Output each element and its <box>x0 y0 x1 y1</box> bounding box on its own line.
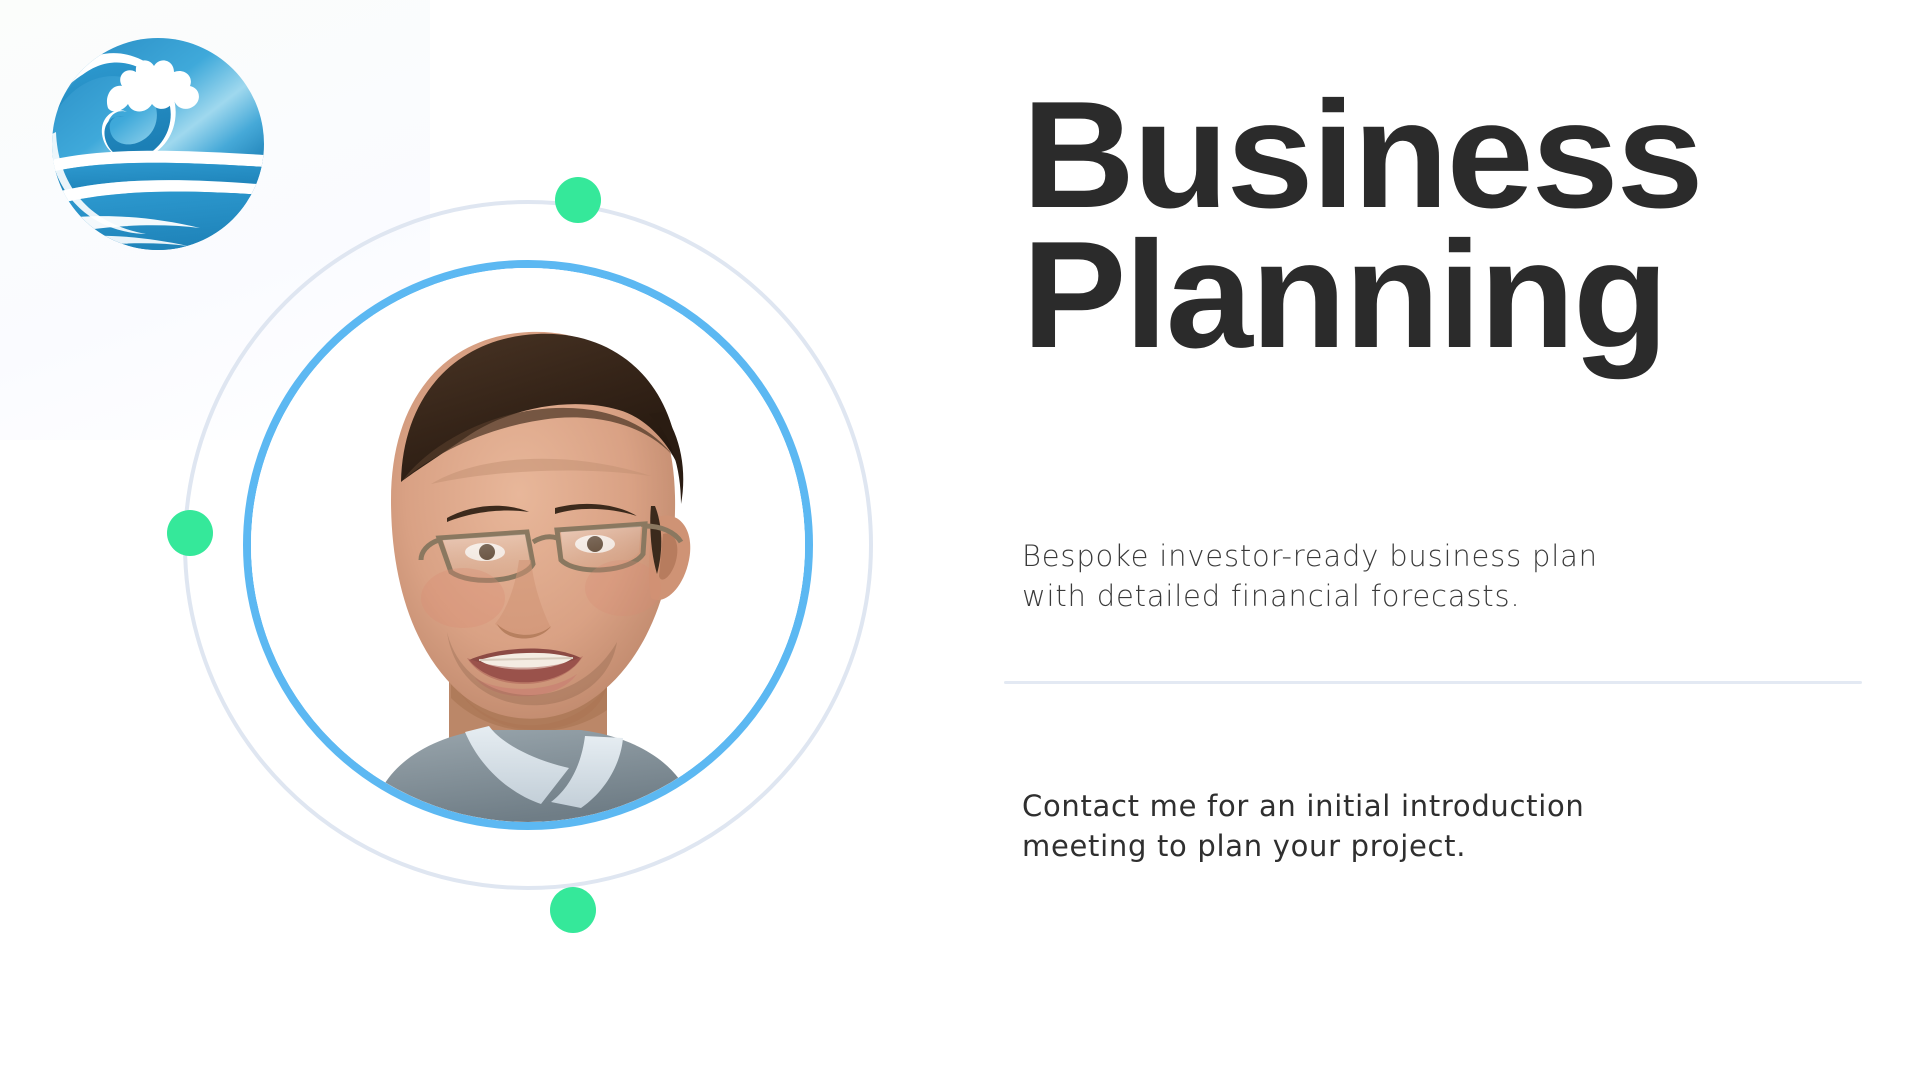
contact-text: Contact me for an initial introduction m… <box>1022 786 1682 866</box>
subtitle-text: Bespoke investor-ready business plan wit… <box>1022 536 1662 616</box>
slide-canvas: Business Planning Bespoke investor-ready… <box>0 0 1920 1080</box>
accent-dot-bottom <box>550 887 596 933</box>
section-divider <box>1004 681 1862 684</box>
accent-dot-top <box>555 177 601 223</box>
accent-dot-left <box>167 510 213 556</box>
page-title: Business Planning <box>1022 86 1908 366</box>
headshot-photo <box>251 268 805 822</box>
portrait-composition <box>0 0 900 1000</box>
